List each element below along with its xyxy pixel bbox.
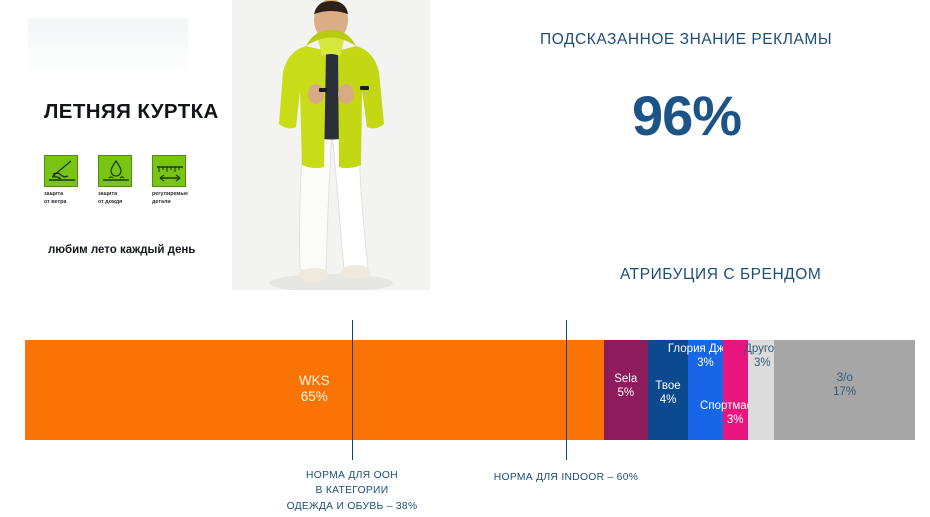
creative-panel: ЛЕТНЯЯ КУРТКА защита от ветра (0, 0, 232, 290)
segment-value: 5% (614, 387, 637, 401)
brand-attribution-stacked-bar: WKS 65% Sela 5% Твое 4% Глория Джинс 3% (25, 340, 915, 440)
model-photo (232, 0, 430, 290)
feature-wind-protection: защита от ветра (44, 155, 88, 207)
bar-segment-other[interactable]: Другое 3% (748, 340, 775, 440)
feature-caption: защита от дождя (98, 191, 142, 207)
creative-tagline: любим лето каждый день (48, 244, 195, 256)
segment-value: 4% (655, 394, 680, 408)
bar-segment-zo[interactable]: З/о 17% (774, 340, 915, 440)
creative-background-wash (28, 18, 188, 78)
feature-row: защита от ветра защита от дождя (44, 155, 208, 207)
adjustable-details-icon (152, 155, 186, 187)
brand-attribution-title: АТРИБУЦИЯ С БРЕНДОМ (620, 266, 821, 284)
bar-segment-sportmaster[interactable]: Спортмастер 3% (723, 340, 748, 440)
feature-caption: регулиремые детали (152, 191, 208, 207)
feature-rain-protection: защита от дождя (98, 155, 142, 207)
segment-name: З/о (833, 372, 856, 386)
segment-name: Sela (614, 373, 637, 387)
feature-caption: защита от ветра (44, 191, 88, 207)
segment-name: WKS (299, 373, 330, 389)
oon-norm-marker-line (352, 320, 353, 460)
indoor-norm-marker-line (566, 320, 567, 460)
slide-root: ЛЕТНЯЯ КУРТКА защита от ветра (0, 0, 930, 517)
feature-adjustable-details: регулиремые детали (152, 155, 208, 207)
rain-protection-icon (98, 155, 132, 187)
bar-segment-tvoe[interactable]: Твое 4% (648, 340, 688, 440)
wind-protection-icon (44, 155, 78, 187)
oon-norm-note: НОРМА ДЛЯ ООН В КАТЕГОРИИ ОДЕЖДА И ОБУВЬ… (232, 468, 472, 514)
segment-value: 17% (833, 386, 856, 400)
indoor-norm-note: НОРМА ДЛЯ INDOOR – 60% (456, 470, 676, 485)
bar-segment-sela[interactable]: Sela 5% (604, 340, 649, 440)
bar-segment-gloria-jeans[interactable]: Глория Джинс 3% (688, 340, 723, 440)
aided-awareness-title: ПОДСКАЗАННОЕ ЗНАНИЕ РЕКЛАМЫ (540, 31, 832, 49)
segment-name: Твое (655, 380, 680, 394)
segment-value: 65% (299, 389, 330, 405)
bar-segment-wks[interactable]: WKS 65% (25, 340, 604, 440)
creative-headline: ЛЕТНЯЯ КУРТКА (44, 100, 219, 124)
aided-awareness-value: 96% (632, 88, 741, 144)
